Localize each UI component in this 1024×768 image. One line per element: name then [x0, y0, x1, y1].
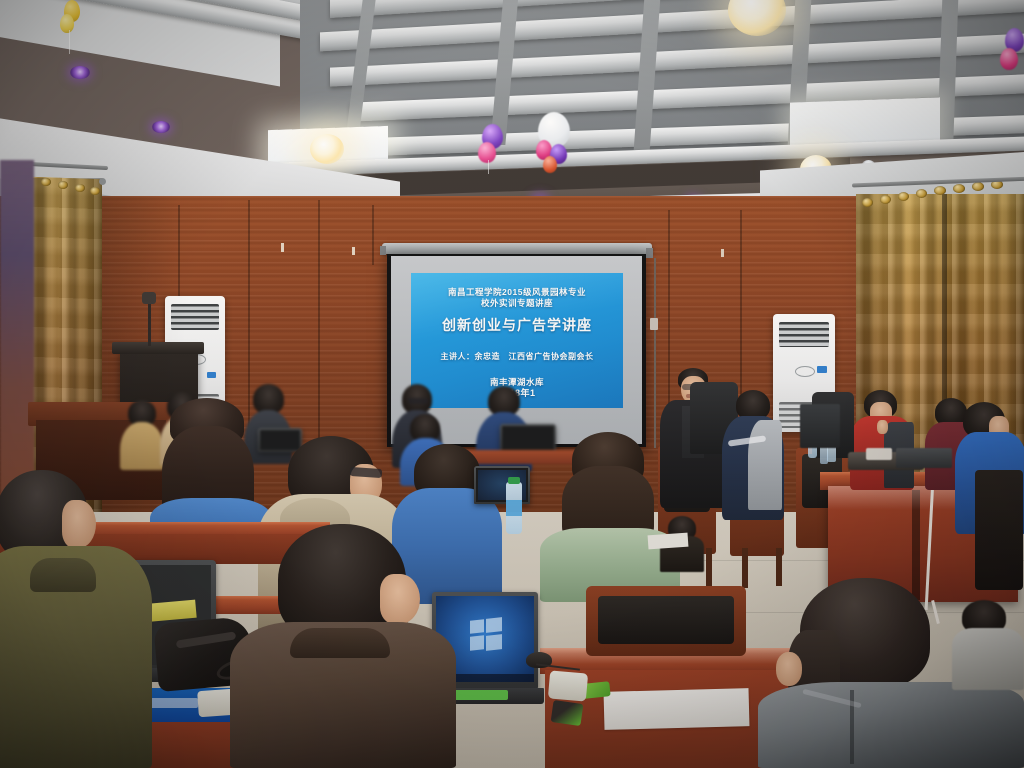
slide-speaker: 主讲人：余忠造 江西省广告协会副会长 [415, 352, 619, 362]
party-balloon-cluster-left [60, 0, 86, 54]
party-balloon-cluster-right-center [534, 112, 576, 174]
projector-screen-bracket-left [380, 246, 386, 255]
party-balloon-cluster-center [476, 124, 510, 172]
projector-screen-housing [382, 243, 652, 254]
eyeglasses [408, 398, 428, 404]
computer-monitor [800, 404, 840, 448]
white-paper-sheet [648, 533, 689, 550]
water-bottle-cap [508, 477, 520, 484]
chair-leg [706, 548, 712, 590]
seated-student-green-shawl [540, 432, 680, 602]
microphone-head [142, 292, 156, 304]
grey-denim-jacket [758, 682, 1024, 768]
hanging-cable [654, 258, 656, 448]
seated-student-red [850, 390, 914, 490]
chair-leg [742, 548, 748, 588]
recessed-spotlight-2 [152, 121, 170, 133]
microphone-stand [148, 300, 151, 346]
laptop-sticker [450, 690, 508, 700]
ear-neck [62, 500, 96, 548]
lectern-top [112, 342, 204, 354]
face-edge [776, 652, 802, 686]
open-laptop [896, 448, 952, 468]
wall-hook [281, 243, 284, 252]
hand-on-chin [877, 420, 888, 434]
slide-glare [411, 273, 623, 353]
party-balloon-cluster-right [1000, 28, 1024, 88]
seated-student [952, 600, 1024, 690]
desk-clutter-right-2 [866, 448, 892, 460]
seated-person-center-foreground [230, 524, 456, 768]
lecture-hall-photo: 南昌工程学院2015级风景园林专业 校外实训专题讲座 创新创业与广告学讲座 主讲… [0, 0, 1024, 768]
ear [380, 574, 420, 624]
projector-screen-bracket-right [646, 248, 653, 258]
wall-hook [721, 249, 724, 257]
cable-clip [650, 318, 658, 330]
office-chair-right-2 [975, 470, 1023, 590]
hoodie-sleeve [748, 420, 782, 510]
jacket-collar [290, 628, 390, 658]
white-package-center [548, 670, 588, 701]
wall-seam [740, 210, 742, 410]
recessed-spotlight-1 [70, 66, 90, 79]
wall-hook [352, 247, 355, 255]
wall-seam [372, 205, 374, 265]
water-bottle-label [506, 500, 522, 516]
chair-backrest-foreground [598, 596, 734, 644]
green-snack-wrapper [551, 700, 584, 726]
white-paper-sheet [604, 688, 750, 730]
jacket-collar [30, 558, 96, 592]
seated-student-hoodie [722, 390, 784, 520]
ceiling-dome-lamp-2 [310, 134, 344, 164]
seated-person-olive [0, 470, 152, 768]
curtain-rod-finial [99, 178, 106, 185]
